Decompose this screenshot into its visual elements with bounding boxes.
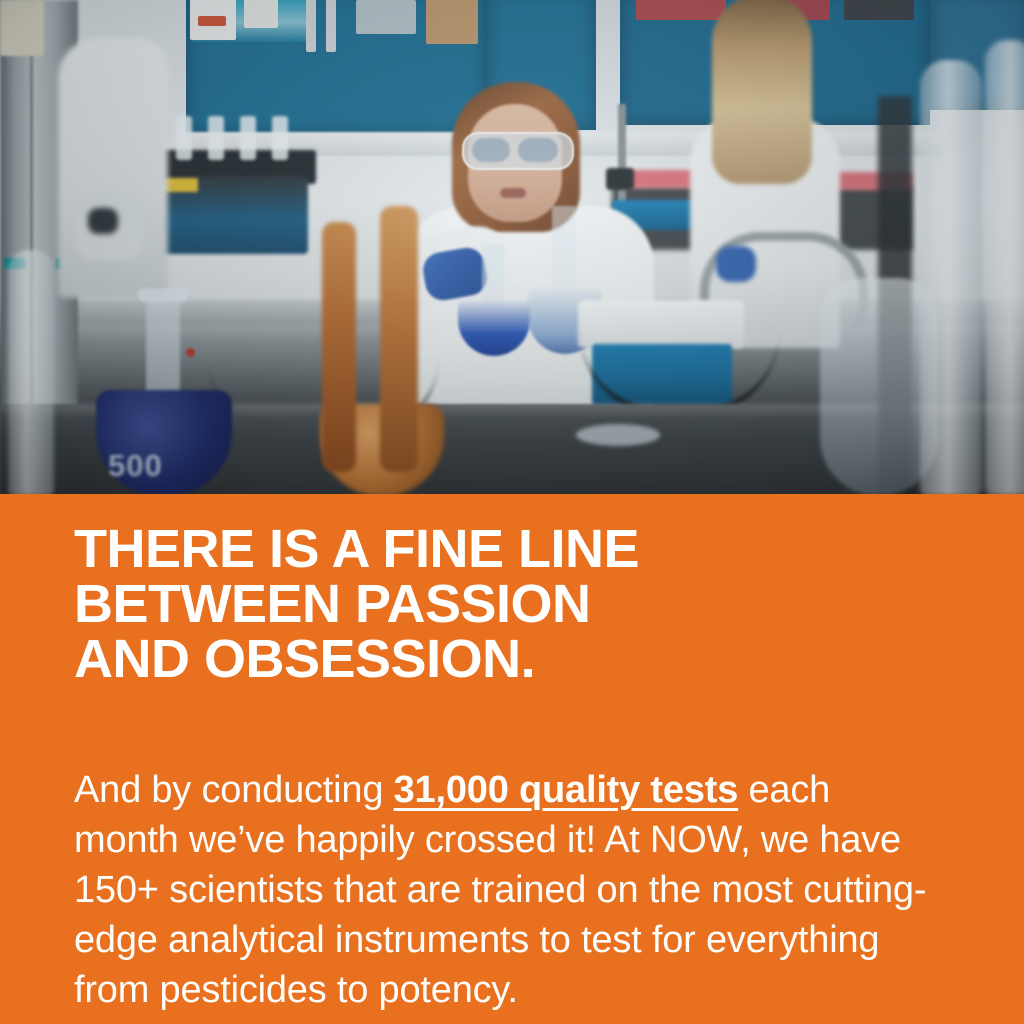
flask-neck-blue (482, 244, 504, 306)
upper-cabinet-left (186, 0, 486, 135)
cabinet-carton-brown (426, 0, 478, 44)
amber-flask-neck-a (322, 222, 356, 472)
petri-dish (576, 424, 660, 446)
orange-message-panel: THERE IS A FINE LINE BETWEEN PASSION AND… (0, 494, 1024, 1024)
headline: THERE IS A FINE LINE BETWEEN PASSION AND… (74, 522, 954, 687)
cabinet-bottle-a (306, 0, 316, 52)
background-glove (716, 246, 756, 282)
cabinet-equipment (356, 0, 416, 34)
outlet-indicator-light (186, 348, 195, 357)
cabinet-item-red-a (636, 0, 726, 20)
foreground-cylinder-left (8, 250, 54, 494)
test-tube-1 (176, 116, 192, 160)
foreground-clear-cylinder-b (920, 60, 982, 494)
body-text-emphasis: 31,000 quality tests (394, 769, 739, 811)
cabinet-label-red (198, 16, 226, 26)
cabinet-bottle-b (326, 0, 336, 52)
test-tube-2 (208, 116, 224, 160)
test-tube-4 (272, 116, 288, 160)
body-paragraph: And by conducting 31,000 quality tests e… (74, 765, 944, 1015)
goggles-lens-right (518, 138, 558, 162)
test-tube-3 (240, 116, 256, 160)
flask-500-neck (146, 296, 180, 396)
main-scientist-mouth (500, 188, 526, 198)
social-graphic-canvas: 500 THERE IS A FINE LINE BETWEEN PASSION… (0, 0, 1024, 1024)
flask-neck-clear (552, 206, 576, 294)
retort-stand-clamp (606, 168, 634, 190)
wall-outlet (0, 0, 44, 56)
flask-500-label: 500 (108, 448, 194, 482)
cabinet-box-white-2 (244, 0, 278, 28)
foreground-clear-cylinder-c (985, 40, 1024, 494)
laboratory-photo: 500 (0, 0, 1024, 494)
cabinet-item-dark (844, 0, 914, 20)
body-text-part-1: And by conducting (74, 769, 394, 811)
background-scientist-right-hair (712, 0, 812, 184)
amber-flask-neck-b (380, 206, 418, 472)
goggles-lens-left (472, 138, 510, 162)
retort-stand-rod (618, 104, 626, 214)
background-scientist-left-hand (88, 208, 118, 234)
